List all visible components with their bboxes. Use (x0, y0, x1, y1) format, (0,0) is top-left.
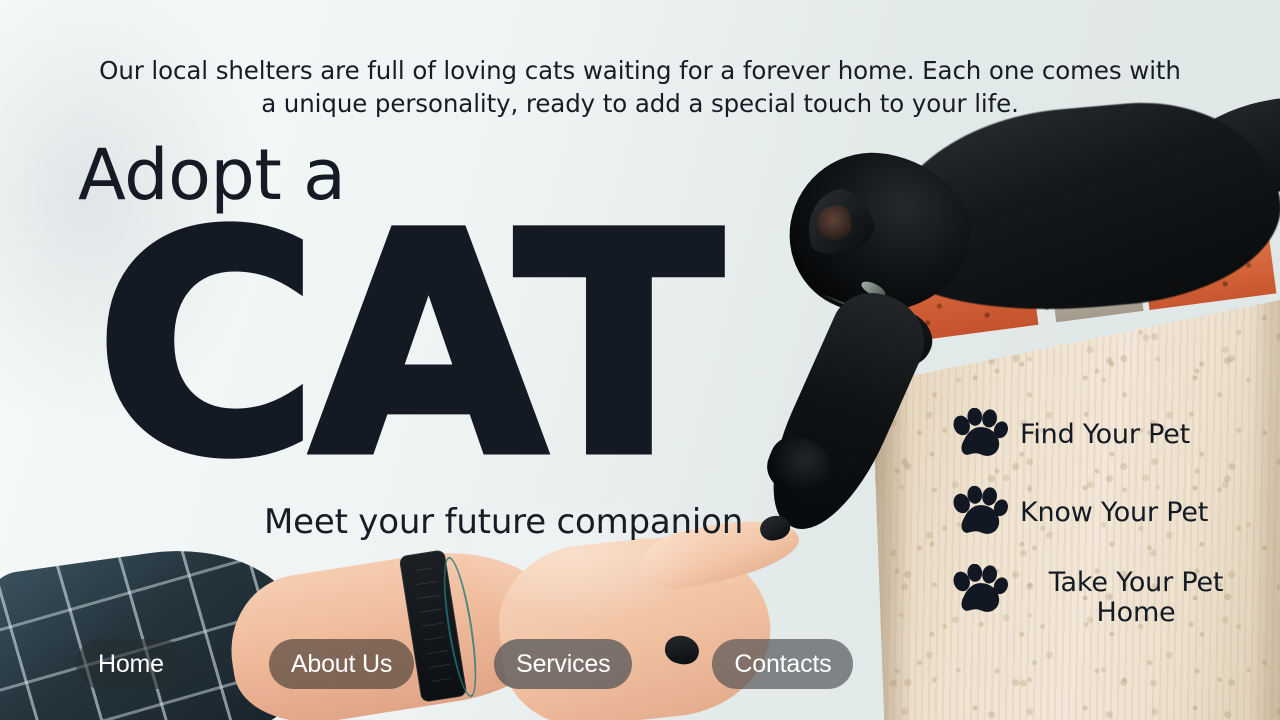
main-navigation: Home About Us Services Contacts (76, 639, 853, 689)
feature-list: Find Your Pet Know Your Pet Take Your Pe… (952, 408, 1252, 652)
feature-label: Take Your Pet Home (1020, 564, 1252, 628)
feature-label: Know Your Pet (1020, 498, 1208, 528)
feature-item-know-your-pet[interactable]: Know Your Pet (952, 486, 1252, 540)
nav-item-about-us[interactable]: About Us (269, 639, 414, 689)
hero-banner: Our local shelters are full of loving ca… (0, 0, 1280, 720)
feature-item-take-your-pet-home[interactable]: Take Your Pet Home (952, 564, 1252, 628)
nav-item-services[interactable]: Services (494, 639, 632, 689)
feature-item-find-your-pet[interactable]: Find Your Pet (952, 408, 1252, 462)
page-title: CAT (96, 196, 716, 498)
nav-item-home[interactable]: Home (76, 639, 186, 689)
paw-icon (952, 564, 1008, 618)
hero-tagline: Meet your future companion (264, 505, 743, 539)
paw-icon (952, 408, 1008, 462)
feature-label: Find Your Pet (1020, 420, 1190, 450)
paw-icon (952, 486, 1008, 540)
intro-paragraph: Our local shelters are full of loving ca… (90, 54, 1190, 120)
nav-item-contacts[interactable]: Contacts (712, 639, 853, 689)
